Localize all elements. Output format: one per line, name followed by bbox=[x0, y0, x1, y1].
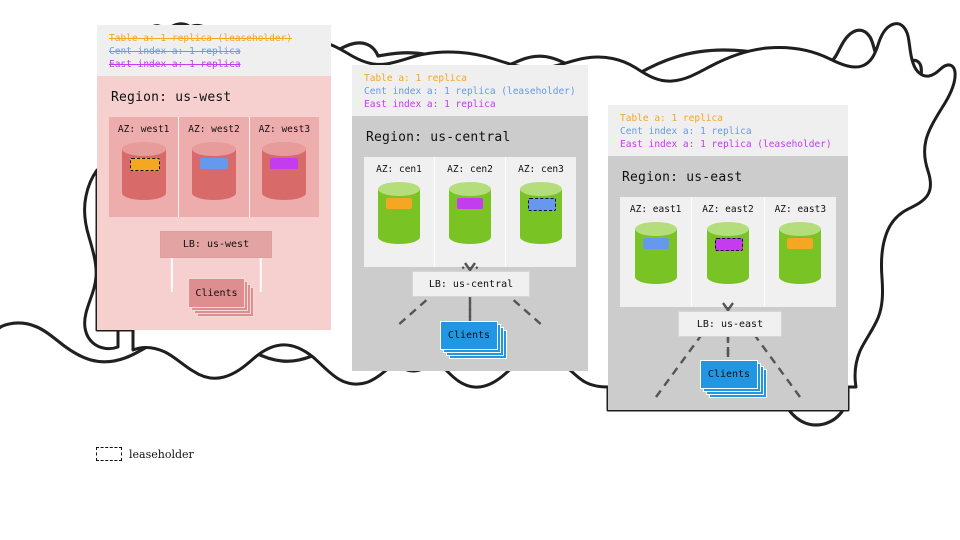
node-cylinder[interactable] bbox=[449, 182, 491, 244]
legend-line-3: East index a: 1 replica (leaseholder) bbox=[620, 138, 838, 151]
region-panel-us-east: Table a: 1 replicaCent index a: 1 replic… bbox=[608, 105, 848, 410]
node-cylinder[interactable] bbox=[520, 182, 562, 244]
region-body-us-central: Region: us-centralAZ: cen1AZ: cen2AZ: ce… bbox=[352, 116, 588, 371]
region-title-us-central: Region: us-central bbox=[352, 116, 588, 157]
legend-line-2: Cent index a: 1 replica bbox=[620, 125, 838, 138]
cylinder-top bbox=[707, 222, 749, 236]
replica-chip bbox=[457, 198, 483, 209]
clients-us-central[interactable]: Clients bbox=[440, 321, 506, 358]
replica-legend-us-west: Table a: 1 replica (leaseholder)Cent ind… bbox=[97, 25, 331, 76]
az-cell-cen1[interactable]: AZ: cen1 bbox=[364, 157, 434, 267]
replica-chip-leaseholder bbox=[528, 198, 556, 211]
az-cell-cen3[interactable]: AZ: cen3 bbox=[505, 157, 576, 267]
replica-chip bbox=[386, 198, 412, 209]
load-balancer-us-central[interactable]: LB: us-central bbox=[412, 271, 530, 297]
node-cylinder[interactable] bbox=[378, 182, 420, 244]
load-balancer-us-west[interactable]: LB: us-west bbox=[160, 231, 272, 258]
load-balancer-us-east[interactable]: LB: us-east bbox=[678, 311, 782, 337]
legend-line-1: Table a: 1 replica bbox=[364, 72, 578, 85]
clients-us-west[interactable]: Clients bbox=[188, 278, 253, 316]
cylinder-body bbox=[635, 229, 677, 277]
cylinder-top bbox=[520, 182, 562, 196]
node-cylinder[interactable] bbox=[779, 222, 821, 284]
az-label: AZ: cen3 bbox=[518, 164, 564, 175]
legend-line-3: East index a: 1 replica bbox=[364, 98, 578, 111]
clients-label: Clients bbox=[188, 278, 245, 308]
cylinder-body bbox=[449, 189, 491, 237]
az-cell-cen2[interactable]: AZ: cen2 bbox=[434, 157, 505, 267]
cylinder-body bbox=[779, 229, 821, 277]
replica-legend-us-central: Table a: 1 replicaCent index a: 1 replic… bbox=[352, 65, 588, 116]
legend-line-2: Cent index a: 1 replica (leaseholder) bbox=[364, 85, 578, 98]
cylinder-body bbox=[378, 189, 420, 237]
region-panel-us-central: Table a: 1 replicaCent index a: 1 replic… bbox=[352, 65, 588, 371]
az-cell-east3[interactable]: AZ: east3 bbox=[764, 197, 836, 307]
az-cell-east1[interactable]: AZ: east1 bbox=[620, 197, 691, 307]
az-label: AZ: cen2 bbox=[447, 164, 493, 175]
cylinder-top bbox=[779, 222, 821, 236]
az-cell-east2[interactable]: AZ: east2 bbox=[691, 197, 763, 307]
cylinder-top bbox=[449, 182, 491, 196]
az-label: AZ: east3 bbox=[775, 204, 826, 215]
az-label: AZ: east1 bbox=[630, 204, 681, 215]
legend-line-1: Table a: 1 replica bbox=[620, 112, 838, 125]
legend-line-1: Table a: 1 replica (leaseholder) bbox=[109, 32, 321, 45]
cylinder-top bbox=[378, 182, 420, 196]
legend-line-3: East index a: 1 replica bbox=[109, 58, 321, 71]
node-cylinder[interactable] bbox=[707, 222, 749, 284]
replica-chip bbox=[787, 238, 813, 249]
az-label: AZ: east2 bbox=[702, 204, 753, 215]
az-strip-us-central: AZ: cen1AZ: cen2AZ: cen3 bbox=[364, 157, 576, 267]
region-body-us-east: Region: us-eastAZ: east1AZ: east2AZ: eas… bbox=[608, 156, 848, 410]
cylinder-body bbox=[520, 189, 562, 237]
region-body-us-west: Region: us-westAZ: west1AZ: west2AZ: wes… bbox=[97, 76, 331, 330]
region-title-us-east: Region: us-east bbox=[608, 156, 848, 197]
az-strip-us-east: AZ: east1AZ: east2AZ: east3 bbox=[620, 197, 836, 307]
replica-chip bbox=[643, 238, 669, 249]
region-panel-us-west: Table a: 1 replica (leaseholder)Cent ind… bbox=[97, 25, 331, 330]
cylinder-body bbox=[707, 229, 749, 277]
clients-us-east[interactable]: Clients bbox=[700, 360, 766, 397]
clients-label: Clients bbox=[700, 360, 758, 389]
az-label: AZ: cen1 bbox=[376, 164, 422, 175]
node-cylinder[interactable] bbox=[635, 222, 677, 284]
replica-chip-leaseholder bbox=[715, 238, 743, 251]
clients-label: Clients bbox=[440, 321, 498, 350]
legend-line-2: Cent index a: 1 replica bbox=[109, 45, 321, 58]
cylinder-top bbox=[635, 222, 677, 236]
replica-legend-us-east: Table a: 1 replicaCent index a: 1 replic… bbox=[608, 105, 848, 156]
